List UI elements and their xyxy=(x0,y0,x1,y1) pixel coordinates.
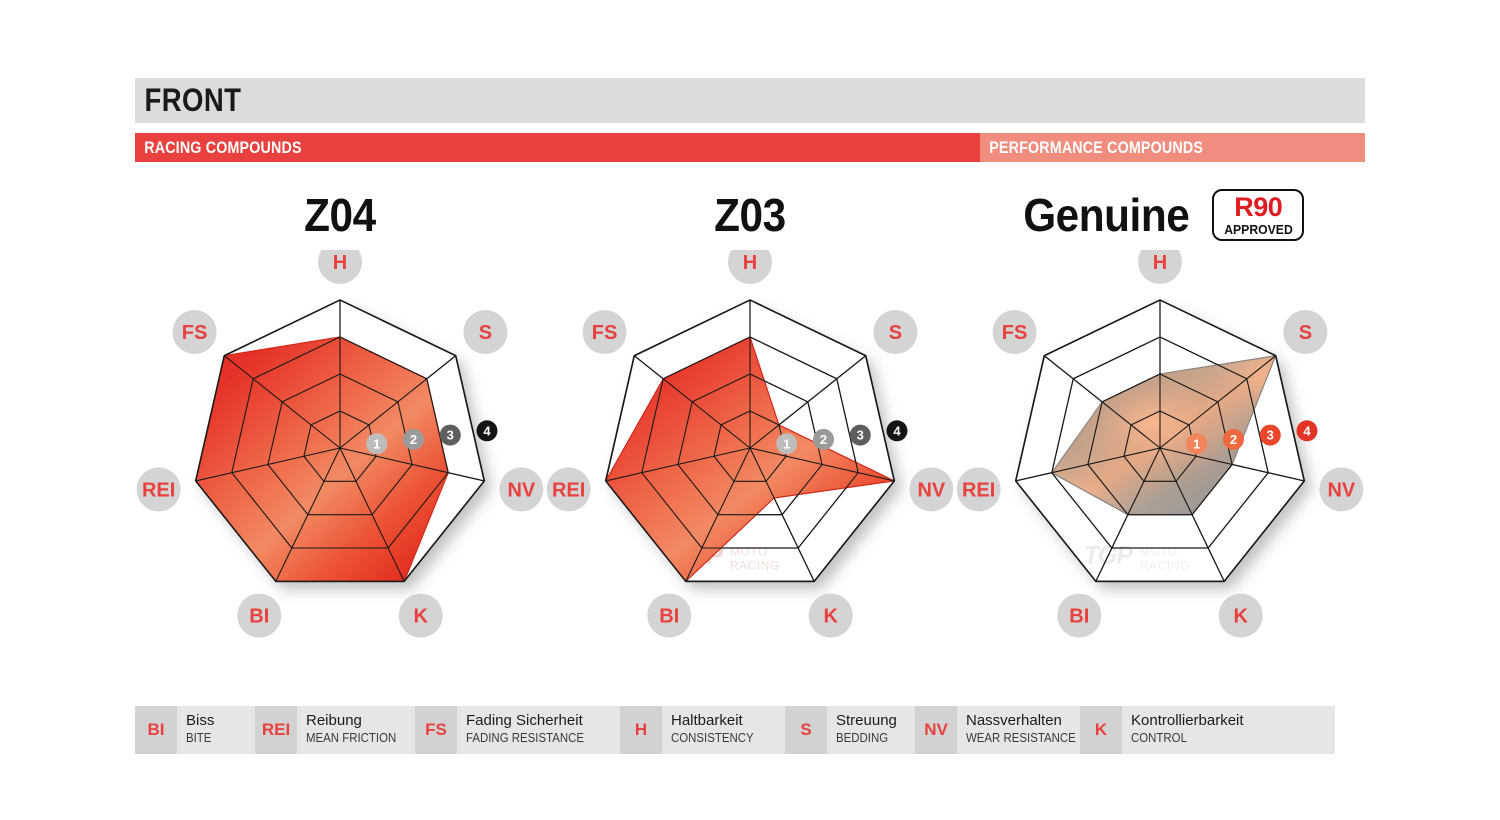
svg-text:2: 2 xyxy=(1230,432,1237,447)
svg-text:BI: BI xyxy=(659,606,679,628)
svg-text:4: 4 xyxy=(1303,423,1311,438)
scale-badge-3: 3 xyxy=(440,425,461,446)
svg-text:S: S xyxy=(889,322,902,344)
radar-chart-genuine: TGPMOTORACING1234HSNVKBIREIFS xyxy=(955,250,1365,670)
legend-text-block: Fading SicherheitFADING RESISTANCE xyxy=(457,706,612,754)
legend-abbr-nv: NV xyxy=(915,706,957,754)
svg-text:1: 1 xyxy=(783,436,790,451)
compound-title-z03: Z03 xyxy=(545,186,955,244)
axis-label-nv: NV xyxy=(909,467,953,511)
axis-label-h: H xyxy=(1138,250,1182,284)
legend-item-fs: FSFading SicherheitFADING RESISTANCE xyxy=(415,706,620,754)
radar-data-series xyxy=(196,337,449,581)
svg-text:REI: REI xyxy=(552,479,585,501)
legend-term-de: Nassverhalten xyxy=(966,712,1091,729)
legend-item-bi: BIBissBITE xyxy=(135,706,255,754)
axis-label-rei: REI xyxy=(137,467,181,511)
svg-text:1: 1 xyxy=(373,436,380,451)
axis-label-h: H xyxy=(728,250,772,284)
legend-item-h: HHaltbarkeitCONSISTENCY xyxy=(620,706,785,754)
axis-label-rei: REI xyxy=(957,467,1001,511)
axis-label-fs: FS xyxy=(583,310,627,354)
legend-term-en: WEAR RESISTANCE xyxy=(966,730,1076,746)
scale-badge-1: 1 xyxy=(776,433,797,454)
svg-text:RACING: RACING xyxy=(1140,558,1190,572)
svg-text:H: H xyxy=(1153,252,1167,274)
svg-text:3: 3 xyxy=(857,428,864,443)
svg-text:FS: FS xyxy=(592,322,618,344)
svg-text:NV: NV xyxy=(507,479,535,501)
svg-text:NV: NV xyxy=(917,479,945,501)
svg-text:H: H xyxy=(743,252,757,274)
legend-abbr-h: H xyxy=(620,706,662,754)
legend-abbr-rei: REI xyxy=(255,706,297,754)
svg-text:4: 4 xyxy=(483,423,491,438)
compound-title-row: Z04 Z03 Genuine R90 APPROVED xyxy=(135,186,1365,244)
legend-text-block: ReibungMEAN FRICTION xyxy=(297,706,421,754)
legend-text-block: KontrollierbarkeitCONTROL xyxy=(1122,706,1256,754)
abbreviation-legend: BIBissBITEREIReibungMEAN FRICTIONFSFadin… xyxy=(135,706,1335,754)
legend-abbr-bi: BI xyxy=(135,706,177,754)
legend-term-de: Kontrollierbarkeit xyxy=(1131,712,1244,729)
racing-compounds-label: RACING COMPOUNDS xyxy=(135,138,302,158)
svg-text:REI: REI xyxy=(962,479,995,501)
svg-text:BI: BI xyxy=(249,606,269,628)
svg-text:2: 2 xyxy=(410,432,417,447)
svg-text:K: K xyxy=(1233,606,1248,628)
compound-name-z04: Z04 xyxy=(304,188,376,242)
category-band-row: RACING COMPOUNDS PERFORMANCE COMPOUNDS xyxy=(135,133,1365,162)
scale-badge-4: 4 xyxy=(886,420,907,441)
axis-label-fs: FS xyxy=(993,310,1037,354)
scale-badge-3: 3 xyxy=(850,425,871,446)
position-label: FRONT xyxy=(135,82,241,119)
svg-text:MOTO: MOTO xyxy=(730,544,768,558)
svg-text:RACING: RACING xyxy=(730,558,780,572)
scale-badge-4: 4 xyxy=(1296,420,1317,441)
compound-title-genuine: Genuine R90 APPROVED xyxy=(955,186,1365,244)
axis-label-nv: NV xyxy=(1319,467,1363,511)
radar-chart-z03: TGPMOTORACING1234HSNVKBIREIFS xyxy=(545,250,955,670)
scale-badge-4: 4 xyxy=(476,420,497,441)
svg-text:3: 3 xyxy=(1267,428,1274,443)
svg-text:3: 3 xyxy=(447,428,454,443)
datasheet-page: FRONT RACING COMPOUNDS PERFORMANCE COMPO… xyxy=(0,0,1500,820)
legend-term-de: Haltbarkeit xyxy=(671,712,765,729)
svg-text:H: H xyxy=(333,252,347,274)
svg-text:K: K xyxy=(413,606,428,628)
scale-badge-1: 1 xyxy=(1186,433,1207,454)
legend-text-block: BissBITE xyxy=(177,706,227,754)
axis-label-nv: NV xyxy=(499,467,543,511)
svg-text:S: S xyxy=(479,322,492,344)
axis-label-bi: BI xyxy=(647,594,691,638)
svg-text:2: 2 xyxy=(820,432,827,447)
scale-badge-2: 2 xyxy=(403,429,424,450)
radar-svg: TGPMOTORACING1234HSNVKBIREIFS xyxy=(545,250,955,670)
radar-svg: TGPMOTORACING1234HSNVKBIREIFS xyxy=(955,250,1365,670)
legend-term-en: MEAN FRICTION xyxy=(306,730,396,746)
position-title-bar: FRONT xyxy=(135,78,1365,123)
scale-badge-2: 2 xyxy=(1223,429,1244,450)
axis-label-h: H xyxy=(318,250,362,284)
legend-item-s: SStreuungBEDDING xyxy=(785,706,915,754)
svg-text:1: 1 xyxy=(1193,436,1200,451)
legend-term-de: Reibung xyxy=(306,712,409,729)
svg-text:FS: FS xyxy=(1002,322,1028,344)
scale-badge-3: 3 xyxy=(1260,425,1281,446)
radar-chart-z04: TGPMOTORACING1234HSNVKBIREIFS xyxy=(135,250,545,670)
compound-name-z03: Z03 xyxy=(714,188,786,242)
legend-term-de: Fading Sicherheit xyxy=(466,712,600,729)
legend-text-block: HaltbarkeitCONSISTENCY xyxy=(662,706,777,754)
scale-badge-1: 1 xyxy=(366,433,387,454)
radar-svg: TGPMOTORACING1234HSNVKBIREIFS xyxy=(135,250,545,670)
axis-label-k: K xyxy=(1219,594,1263,638)
legend-item-nv: NVNassverhaltenWEAR RESISTANCE xyxy=(915,706,1080,754)
legend-term-en: FADING RESISTANCE xyxy=(466,730,584,746)
legend-abbr-s: S xyxy=(785,706,827,754)
compound-name-genuine: Genuine xyxy=(1023,188,1189,242)
legend-term-de: Streuung xyxy=(836,712,897,729)
r90-badge-bottom-label: APPROVED xyxy=(1224,223,1293,236)
racing-compounds-band: RACING COMPOUNDS xyxy=(135,133,980,162)
legend-item-k: KKontrollierbarkeitCONTROL xyxy=(1080,706,1280,754)
legend-term-de: Biss xyxy=(186,712,215,729)
compound-title-z04: Z04 xyxy=(135,186,545,244)
svg-text:FS: FS xyxy=(182,322,208,344)
axis-label-s: S xyxy=(463,310,507,354)
performance-compounds-label: PERFORMANCE COMPOUNDS xyxy=(980,138,1203,158)
axis-label-rei: REI xyxy=(547,467,591,511)
svg-text:BI: BI xyxy=(1069,606,1089,628)
legend-term-en: BEDDING xyxy=(836,730,890,746)
svg-text:S: S xyxy=(1299,322,1312,344)
legend-term-en: BITE xyxy=(186,730,211,746)
legend-abbr-fs: FS xyxy=(415,706,457,754)
legend-abbr-k: K xyxy=(1080,706,1122,754)
axis-label-k: K xyxy=(809,594,853,638)
svg-text:MOTO: MOTO xyxy=(1140,544,1178,558)
performance-compounds-band: PERFORMANCE COMPOUNDS xyxy=(980,133,1365,162)
axis-label-bi: BI xyxy=(237,594,281,638)
axis-label-s: S xyxy=(1283,310,1327,354)
axis-label-fs: FS xyxy=(173,310,217,354)
svg-text:NV: NV xyxy=(1327,479,1355,501)
legend-text-block: StreuungBEDDING xyxy=(827,706,909,754)
legend-item-rei: REIReibungMEAN FRICTION xyxy=(255,706,415,754)
legend-term-en: CONSISTENCY xyxy=(671,730,754,746)
svg-text:REI: REI xyxy=(142,479,175,501)
svg-text:K: K xyxy=(823,606,838,628)
legend-term-en: CONTROL xyxy=(1131,730,1230,746)
r90-approved-badge: R90 APPROVED xyxy=(1212,189,1304,241)
r90-badge-top-label: R90 xyxy=(1234,194,1282,221)
radar-chart-row: TGPMOTORACING1234HSNVKBIREIFS TGPMOTORAC… xyxy=(135,250,1365,670)
scale-badge-2: 2 xyxy=(813,429,834,450)
svg-text:4: 4 xyxy=(893,423,901,438)
axis-label-k: K xyxy=(399,594,443,638)
axis-label-s: S xyxy=(873,310,917,354)
axis-label-bi: BI xyxy=(1057,594,1101,638)
